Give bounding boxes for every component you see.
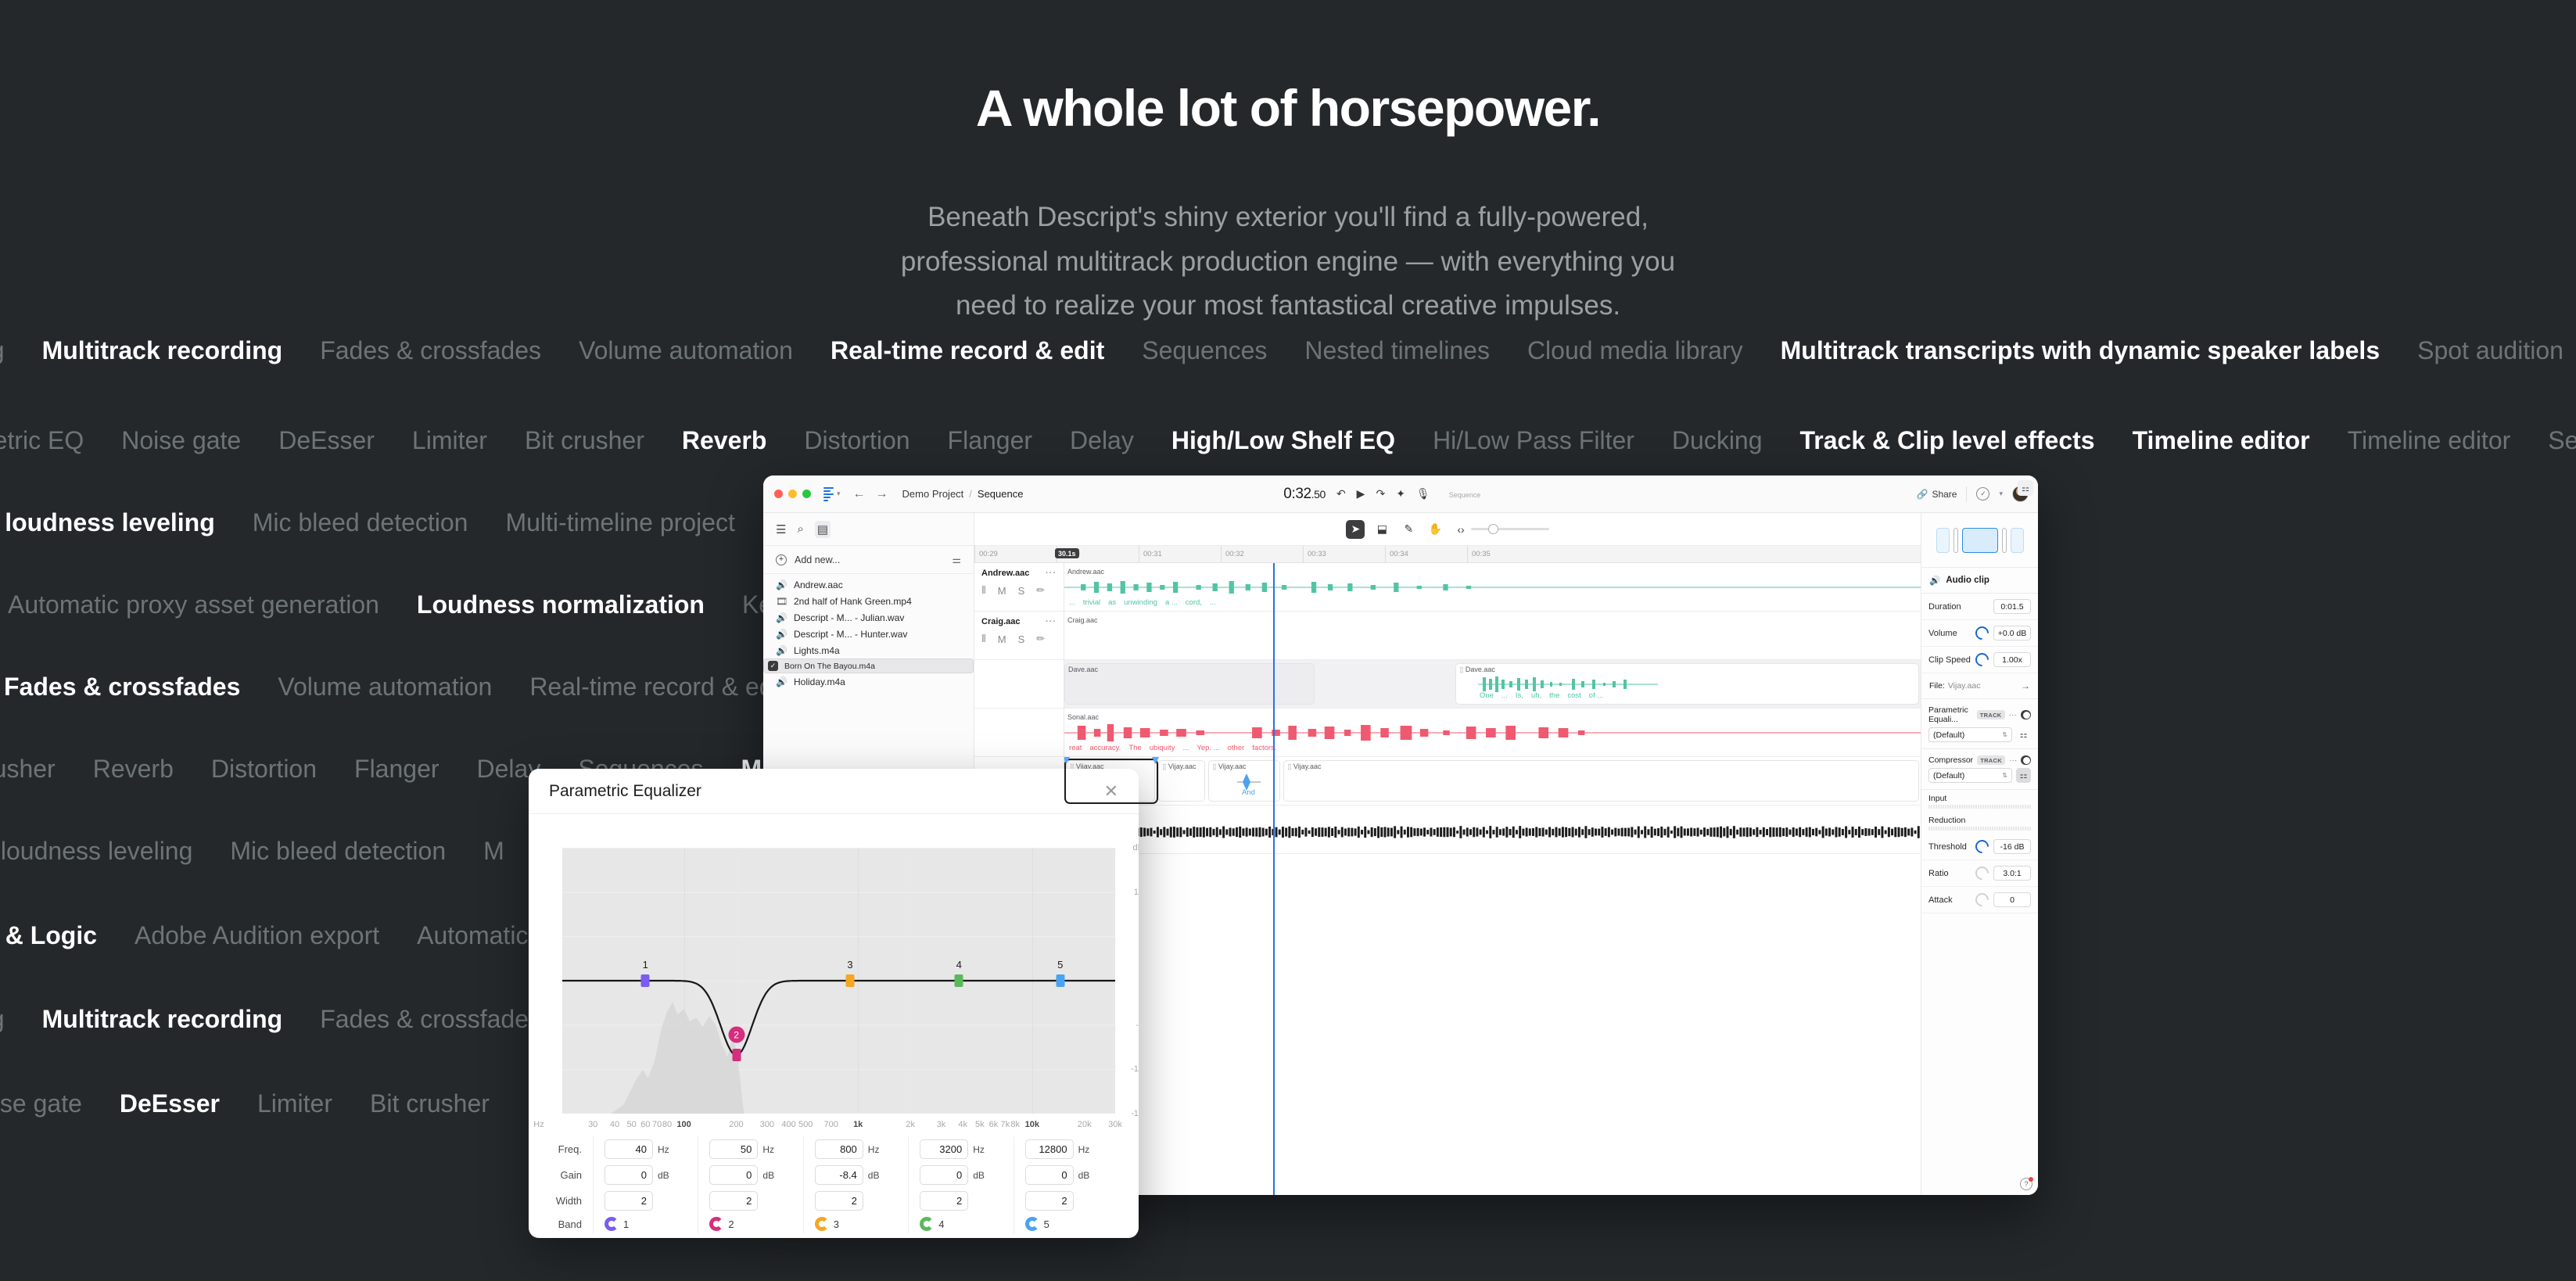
zoom-slider[interactable] (1471, 528, 1549, 530)
transcript-word[interactable]: the (1549, 691, 1559, 700)
eq-x-tick: 20k (1078, 1120, 1092, 1129)
eq-band-index: 4 (938, 1218, 944, 1230)
descript-logo-icon (823, 487, 834, 501)
feature-tag[interactable]: Sequences (1142, 336, 1267, 365)
track-menu-icon[interactable]: ··· (1046, 617, 1057, 626)
mute-button[interactable]: M (998, 585, 1006, 597)
meter-label: Input (1921, 790, 2038, 805)
transcript-word[interactable]: The (1128, 744, 1141, 752)
eq-gain-input[interactable]: 0 (709, 1165, 758, 1185)
filter-icon[interactable]: ⚌ (952, 554, 961, 566)
eq-x-tick: 80 (662, 1120, 672, 1129)
rotary-knob[interactable] (1972, 650, 1991, 669)
file-name: Holiday.m4a (794, 676, 845, 687)
ruler-tick: 00:32 (1221, 546, 1303, 562)
search-icon[interactable]: ⌕ (797, 522, 803, 536)
feature-tag[interactable]: Distortion (211, 755, 317, 784)
effect-toggle[interactable] (2021, 710, 2031, 719)
playhead[interactable] (1273, 563, 1275, 1195)
eq-x-tick: 5k (975, 1120, 985, 1129)
eq-band-cell: 1 (593, 1214, 698, 1234)
feature-tag[interactable]: Hi/Low Pass Filter (1433, 426, 1634, 455)
speaker-icon: 🔊 (1929, 575, 1940, 586)
maximize-window-icon[interactable] (802, 490, 811, 498)
plus-icon: + (776, 554, 787, 565)
feature-tag[interactable]: Distortion (804, 426, 909, 455)
clip-type-label: Audio clip (1946, 576, 1989, 585)
rotary-knob[interactable] (1972, 863, 1991, 882)
eq-band-color-ring[interactable] (709, 1217, 723, 1231)
audio-icon[interactable]: 🔊 (776, 676, 788, 687)
feature-tag[interactable]: Real-time record & ed (529, 673, 773, 701)
eq-gain-input[interactable]: -8.4 (815, 1165, 863, 1185)
feature-tag[interactable]: Adobe Audition export (135, 921, 379, 950)
feature-tag[interactable]: Loudness normalization (417, 590, 705, 619)
eq-gain-unit: dB (1078, 1170, 1090, 1181)
drag-grip-icon[interactable]: ⣿ (1459, 666, 1463, 673)
magic-wand-icon[interactable]: ✏ (1036, 633, 1045, 645)
transcript-word[interactable]: ... (1069, 598, 1075, 607)
file-name: Descript - M... - Julian.wav (794, 612, 904, 623)
chevron-down-icon[interactable]: ▾ (837, 490, 841, 498)
eq-gain-input[interactable]: 0 (605, 1165, 653, 1185)
waveform-icon[interactable]: ⦀ (981, 584, 986, 597)
eq-band-handle[interactable] (955, 974, 963, 987)
track-header[interactable]: Andrew.aac···⦀MS✏ (974, 563, 1064, 612)
clip-vijay-3[interactable]: ⣿Vijay.aac And (1208, 760, 1280, 802)
clip-name: Dave.aac (1466, 666, 1495, 673)
preview-clip-selected (1962, 528, 1998, 553)
file-name: Andrew.aac (794, 579, 843, 590)
feature-tag[interactable]: Mic bleed detection (253, 508, 468, 537)
property-label: Volume (1928, 629, 1971, 638)
feature-tag[interactable]: M (483, 837, 504, 866)
effect-menu-icon[interactable]: ··· (2009, 710, 2018, 719)
feature-tag[interactable]: Automatic proxy asset generation (8, 590, 379, 619)
list-item[interactable]: 🔊Descript - M... - Julian.wav (763, 609, 974, 626)
eq-x-tick: 8k (1010, 1120, 1020, 1129)
file-name: 2nd half of Hank Green.mp4 (794, 596, 912, 607)
track-header[interactable]: Craig.aac···⦀MS✏ (974, 612, 1064, 660)
ruler-tick: 00:35 (1467, 546, 1549, 562)
property-row: Volume+0.0 dB (1921, 620, 2038, 647)
preset-select[interactable]: (Default)⇅ (1928, 727, 2012, 742)
hamburger-menu-icon[interactable]: ☰ (776, 522, 786, 536)
eq-x-axis-title: Hz (533, 1120, 544, 1129)
feature-tag[interactable]: Ducking (1672, 426, 1763, 455)
transcript-word[interactable]: Is, (1516, 691, 1523, 700)
feature-tag[interactable]: oise gate (0, 1089, 82, 1118)
audio-icon[interactable]: 🔊 (776, 579, 788, 590)
eq-x-tick: 300 (760, 1120, 774, 1129)
feature-tag[interactable]: ng (0, 336, 5, 365)
eq-band-bubble[interactable]: 2 (728, 1027, 744, 1043)
transcript-word[interactable]: ... (1501, 691, 1508, 700)
list-item[interactable]: 🎞2nd half of Hank Green.mp4 (763, 593, 974, 609)
feature-tag[interactable]: Mic bleed detection (230, 837, 446, 866)
eq-band-handle[interactable] (732, 1049, 741, 1061)
feature-tag[interactable]: Timeline editor (2348, 426, 2511, 455)
audio-icon[interactable]: 🔊 (776, 629, 788, 640)
timecode-display: 0:32.50 (1283, 486, 1326, 503)
eq-freq-cell: 3200Hz (908, 1136, 1013, 1162)
zoom-control[interactable]: ‹› (1457, 523, 1548, 536)
drag-grip-icon[interactable]: ⣿ (1212, 763, 1216, 770)
breadcrumb-project[interactable]: Demo Project (902, 488, 964, 500)
feature-tag[interactable]: Limiter (257, 1089, 332, 1118)
feature-tag[interactable]: Bit crusher (525, 426, 644, 455)
list-item[interactable]: 🔊Andrew.aac (763, 576, 974, 593)
feature-tag[interactable]: Timeline editor (2133, 426, 2310, 455)
feature-tag[interactable]: Limiter (412, 426, 487, 455)
feature-tag[interactable]: ng (0, 1005, 5, 1034)
transcript-word[interactable]: other (1228, 744, 1245, 752)
effect-toggle[interactable] (2021, 755, 2031, 765)
clip-vijay-2[interactable]: ⣿Vijay.aac (1158, 760, 1205, 802)
feature-tag[interactable]: tic loudness leveling (0, 508, 215, 537)
page-subtitle: Beneath Descript's shiny exterior you'll… (780, 196, 1796, 328)
eq-x-tick: 1k (853, 1120, 863, 1129)
share-button[interactable]: 🔗 Share (1916, 489, 1957, 500)
property-label: Duration (1928, 602, 1989, 612)
waveform-icon[interactable]: ⦀ (981, 633, 986, 645)
feature-tag[interactable]: Fades & crossfades (4, 673, 240, 701)
feature-tag[interactable]: Nested timelines (1304, 336, 1490, 365)
redo-icon[interactable]: ↷ (1376, 487, 1385, 501)
hand-tool-icon[interactable]: ✋ (1426, 520, 1444, 539)
param-label: Ratio (1928, 869, 1971, 878)
undo-icon[interactable]: ↶ (1336, 487, 1346, 501)
feature-tag[interactable]: Sequences (2548, 426, 2576, 455)
minimize-window-icon[interactable] (788, 490, 797, 498)
eq-freq-input[interactable]: 12800 (1025, 1139, 1074, 1159)
eq-dialog-header: Parametric Equalizer ✕ (529, 769, 1139, 814)
feature-tag[interactable]: Flanger (948, 426, 1033, 455)
breadcrumb[interactable]: Demo Project / Sequence (902, 488, 1024, 500)
inspector-title: 🔊 Audio clip (1921, 568, 2038, 594)
transcript-word[interactable]: cost (1567, 691, 1580, 700)
feature-tag[interactable]: Volume automation (278, 673, 492, 701)
file-name: Lights.m4a (794, 645, 840, 656)
property-label: Clip Speed (1928, 655, 1971, 665)
transcript-word[interactable]: of ... (1589, 691, 1603, 700)
subtitle-line-1: Beneath Descript's shiny exterior you'll… (780, 196, 1796, 240)
clip-name: Vijay.aac (1168, 762, 1197, 770)
eq-gain-cell: -8.4dB (803, 1162, 908, 1188)
drag-grip-icon[interactable]: ⣿ (1162, 763, 1166, 770)
eq-width-input[interactable]: 2 (605, 1191, 653, 1211)
track-lane[interactable]: Andrew.aac (1064, 563, 1921, 612)
eq-x-tick: 100 (676, 1120, 691, 1129)
param-value[interactable]: -16 dB (1993, 839, 2031, 854)
feature-tag[interactable]: Delay (1070, 426, 1134, 455)
file-label: File: (1929, 681, 1945, 691)
compressor-param-row: Attack0 (1921, 887, 2038, 913)
eq-band-index: 5 (1044, 1218, 1049, 1230)
eq-x-tick: 40 (610, 1120, 619, 1129)
mute-button[interactable]: M (998, 633, 1006, 645)
rotary-knob[interactable] (1972, 623, 1991, 642)
eq-band-color-ring[interactable] (1025, 1217, 1039, 1231)
eq-band-index: 3 (834, 1218, 839, 1230)
eq-x-tick: 30k (1108, 1120, 1122, 1129)
transcript-words-dave[interactable]: One...Is,uh,thecostof ... (1475, 691, 1918, 700)
transcript-word[interactable]: ... (1210, 598, 1216, 607)
clip-lanes[interactable]: Andrew.aac (1064, 563, 1921, 1195)
audio-icon[interactable]: 🔊 (776, 645, 788, 656)
preset-value: (Default) (1933, 771, 1964, 780)
rotary-knob[interactable] (1972, 890, 1991, 909)
drag-grip-icon[interactable]: ⣿ (1287, 763, 1291, 770)
subtitle-line-3: need to realize your most fantastical cr… (780, 284, 1796, 328)
feature-tag[interactable]: Noise gate (121, 426, 241, 455)
effect-settings-icon[interactable]: ⚏ (2016, 768, 2031, 783)
transcript-word[interactable]: unwinding (1124, 598, 1157, 607)
level-meter (1928, 827, 2031, 831)
eq-band-number: 3 (847, 959, 852, 971)
transcript-words-sonal[interactable]: reataccuracy.Theubiquity...Yep. ...other… (1064, 744, 1921, 752)
feature-tag[interactable]: Fades & crossfades (320, 1005, 541, 1034)
feature-tag[interactable]: Multi-timeline project (505, 508, 734, 537)
feature-tag[interactable]: DeEsser (278, 426, 375, 455)
track-header[interactable] (974, 709, 1064, 757)
play-icon[interactable]: ▶ (1357, 487, 1365, 501)
eq-freq-unit: Hz (762, 1144, 774, 1155)
feature-tag[interactable]: Flanger (354, 755, 439, 784)
help-button[interactable]: ? (2020, 1178, 2032, 1190)
transcript-word[interactable]: ... (1182, 744, 1189, 752)
clip-vijay-4[interactable]: ⣿Vijay.aac (1283, 760, 1919, 802)
effect-block: Parametric Equali...TRACK···(Default)⇅⚏ (1921, 699, 2038, 749)
eq-band-handle[interactable] (846, 974, 855, 987)
transcript-word[interactable]: reat (1069, 744, 1082, 752)
transcript-word[interactable]: ubiquity (1150, 744, 1175, 752)
forward-arrow-icon[interactable]: → (876, 487, 888, 501)
ruler-tick: 00:34 (1385, 546, 1467, 562)
eq-band-handle[interactable] (641, 974, 650, 987)
preview-clip-next (2011, 528, 2024, 553)
clip-dave-2[interactable]: ⣿Dave.aac (1455, 663, 1919, 705)
eq-band-color-ring[interactable] (815, 1217, 829, 1231)
feature-tag[interactable]: Automatic (417, 921, 528, 950)
eq-y-tick: -15 (1131, 1109, 1139, 1118)
file-name: Descript - M... - Hunter.wav (794, 629, 907, 640)
chevron-down-icon-2[interactable]: ▾ (1999, 490, 2003, 498)
feature-tag[interactable]: Multitrack recording (42, 1005, 283, 1034)
feature-tag[interactable]: Cloud media library (1527, 336, 1743, 365)
transcript-word[interactable]: a ... (1165, 598, 1178, 607)
clip-selection-box[interactable] (1064, 759, 1158, 804)
feature-tag[interactable]: Fades & crossfades (320, 336, 541, 365)
breadcrumb-page[interactable]: Sequence (978, 488, 1024, 500)
track-lane[interactable]: Craig.aac (1064, 612, 1921, 660)
eq-width-input[interactable]: 2 (1025, 1191, 1074, 1211)
effect-settings-icon[interactable]: ⚏ (2016, 727, 2031, 742)
eq-width-cell: 2 (908, 1188, 1013, 1214)
zoom-fit-icon[interactable]: ‹› (1457, 523, 1464, 536)
eq-response-graph[interactable]: dB 1050-5-10-15 12345 Hz 304050607080100… (562, 848, 1115, 1114)
property-value[interactable]: 1.00x (1993, 652, 2031, 667)
window-controls[interactable] (774, 490, 811, 498)
inspector-toggle-icon[interactable]: ⚏ (2018, 480, 2033, 496)
track-name: Craig.aac (981, 617, 1021, 626)
property-value[interactable]: +0.0 dB (1993, 626, 2031, 640)
feature-tag-row: metric EQNoise gateDeEsserLimiterBit cru… (0, 426, 2576, 455)
zoom-slider-knob[interactable] (1488, 524, 1498, 534)
effect-scope-badge: TRACK (1977, 755, 2005, 765)
feature-tag[interactable]: Reverb (93, 755, 174, 784)
feature-tag[interactable]: rusher (0, 755, 56, 784)
feature-tag[interactable]: Spot audition (2417, 336, 2563, 365)
feature-tag[interactable]: Multitrack recording (42, 336, 283, 365)
clip-name: Vijay.aac (1218, 762, 1247, 770)
track-header[interactable] (974, 660, 1064, 709)
feature-tag[interactable]: Real-time record & edit (831, 336, 1104, 365)
feature-tag[interactable]: Bit crusher (370, 1089, 490, 1118)
eq-row-label: Gain (549, 1169, 593, 1181)
eq-band-color-ring[interactable] (605, 1217, 619, 1231)
transcript-word[interactable]: as (1108, 598, 1116, 607)
track-lane[interactable]: Sonal.aac (1064, 709, 1921, 757)
effect-block: CompressorTRACK···(Default)⇅⚏ (1921, 749, 2038, 790)
eq-x-tick: 200 (729, 1120, 743, 1129)
eq-freq-input[interactable]: 50 (709, 1139, 758, 1159)
effect-name: Compressor (1928, 755, 1973, 765)
track-lane[interactable]: Light My Fire.m4a -3.4 (1064, 806, 1921, 854)
eq-width-cell: 2 (1014, 1188, 1118, 1214)
slip-tool-icon[interactable]: ✎ (1399, 520, 1418, 539)
clip-name: Light My Fire.m4a (1064, 809, 1921, 820)
ruler-tick: 00:33 (1303, 546, 1385, 562)
eq-width-input[interactable]: 2 (709, 1191, 758, 1211)
list-item[interactable]: 🔊Lights.m4a (763, 642, 974, 658)
feature-tag[interactable]: tic loudness leveling (0, 837, 192, 866)
eq-freq-input[interactable]: 40 (605, 1139, 653, 1159)
media-file-list: 🔊Andrew.aac🎞2nd half of Hank Green.mp4🔊D… (763, 574, 974, 690)
eq-freq-cell: 50Hz (698, 1136, 802, 1162)
arrow-right-icon[interactable]: → (2021, 680, 2030, 691)
transcript-word[interactable]: trivial (1083, 598, 1100, 607)
eq-gain-input[interactable]: 0 (920, 1165, 968, 1185)
track-lane[interactable]: ⣿Vijay.aac Yep. ⦀ ⣿Vijay.aac (1064, 757, 1921, 806)
transcript-word[interactable]: uh, (1531, 691, 1541, 700)
transcript-word[interactable]: accuracy. (1089, 744, 1121, 752)
waveform-light-my-fire (1064, 824, 1921, 840)
solo-button[interactable]: S (1018, 633, 1025, 645)
eq-band-handle[interactable] (1056, 974, 1064, 987)
eq-x-tick: 60 (640, 1120, 650, 1129)
eq-x-tick: 400 (781, 1120, 795, 1129)
clip-name: Sonal.aac (1064, 712, 1921, 723)
nav-arrows[interactable]: ← → (853, 487, 888, 501)
back-arrow-icon[interactable]: ← (853, 487, 866, 501)
transcript-word[interactable]: Yep. ... (1197, 744, 1219, 752)
eq-y-tick: -5 (1136, 1021, 1139, 1030)
feature-tag[interactable]: High/Low Shelf EQ (1171, 426, 1395, 455)
checkbox-checked-icon[interactable]: ✓ (768, 661, 778, 671)
microphone-icon[interactable]: 🎙 (1416, 487, 1430, 501)
eq-freq-input[interactable]: 3200 (920, 1139, 968, 1159)
track-lane[interactable]: Dave.aac ⣿Dave.aac (1064, 660, 1921, 709)
eq-y-tick: 10 (1134, 888, 1139, 897)
transcript-word[interactable]: One (1480, 691, 1494, 700)
transcript-words-andrew[interactable]: ...trivialasunwindinga ...cord,... (1064, 598, 1921, 607)
rotary-knob[interactable] (1972, 837, 1991, 856)
eq-width-input[interactable]: 2 (815, 1191, 863, 1211)
audio-icon[interactable]: 🔊 (776, 612, 788, 623)
preset-select[interactable]: (Default)⇅ (1928, 768, 2012, 783)
solo-button[interactable]: S (1018, 585, 1025, 597)
clip-properties: Duration0:01.5Volume+0.0 dBClip Speed1.0… (1921, 594, 2038, 673)
effect-menu-icon[interactable]: ··· (2009, 755, 2018, 765)
eq-freq-cell: 12800Hz (1014, 1136, 1118, 1162)
eq-width-cell: 2 (698, 1188, 802, 1214)
eq-x-tick: 500 (798, 1120, 813, 1129)
eq-band-number: 4 (956, 959, 962, 971)
param-value[interactable]: 0 (1993, 892, 2031, 907)
divider (1966, 486, 1967, 502)
param-value[interactable]: 3.0:1 (1993, 866, 2031, 881)
eq-freq-unit: Hz (1078, 1144, 1090, 1155)
descript-logo[interactable]: ▾ (823, 487, 841, 501)
timecode-main: 0:32 (1283, 486, 1311, 502)
list-item[interactable]: ✓Born On The Bayou.m4a (763, 658, 974, 673)
track-menu-icon[interactable]: ··· (1046, 569, 1057, 578)
panel-toggle-icon[interactable]: ▤ (815, 521, 831, 538)
transcript-word[interactable]: cord, (1186, 598, 1202, 607)
feature-tag[interactable]: metric EQ (0, 426, 84, 455)
eq-freq-input[interactable]: 800 (815, 1139, 863, 1159)
property-value[interactable]: 0:01.5 (1993, 599, 2031, 614)
check-circle-icon[interactable]: ✓ (1976, 487, 1989, 501)
close-window-icon[interactable] (774, 490, 783, 498)
property-row: Duration0:01.5 (1921, 594, 2038, 620)
ruler-position-badge: 30.1s (1055, 548, 1079, 558)
eq-width-cell: 2 (803, 1188, 908, 1214)
magic-wand-icon[interactable]: ✏ (1036, 584, 1045, 597)
feature-tag[interactable]: Volume automation (579, 336, 793, 365)
feature-tag[interactable]: Track & Clip level effects (1800, 426, 2095, 455)
select-tool-icon[interactable]: ➤ (1346, 520, 1365, 539)
sparkle-icon[interactable]: ✦ (1396, 487, 1405, 501)
timeline-ruler[interactable]: 30.1s 00:2900:3000:3100:3200:3300:3400:3… (974, 546, 1921, 563)
eq-band-color-ring[interactable] (920, 1217, 934, 1231)
add-new-button[interactable]: + Add new... ⚌ (763, 546, 974, 574)
feature-tag[interactable]: DeEsser (120, 1089, 220, 1118)
list-item[interactable]: 🔊Holiday.m4a (763, 673, 974, 690)
eq-width-input[interactable]: 2 (920, 1191, 968, 1211)
list-item[interactable]: 🔊Descript - M... - Hunter.wav (763, 626, 974, 642)
chevron-updown-icon: ⇅ (2002, 731, 2007, 738)
eq-band-cell: 5 (1014, 1214, 1118, 1234)
feature-tag[interactable]: Reverb (682, 426, 767, 455)
feature-tag[interactable]: Multitrack transcripts with dynamic spea… (1781, 336, 2380, 365)
compressor-param-row: Threshold-16 dB (1921, 834, 2038, 860)
eq-gain-input[interactable]: 0 (1025, 1165, 1074, 1185)
feature-tag[interactable]: s & Logic (0, 921, 97, 950)
waveform-sonal (1064, 724, 1921, 741)
page-title: A whole lot of horsepower. (0, 78, 2576, 138)
source-file-row[interactable]: File: Vijay.aac → (1921, 673, 2038, 699)
eq-row-label: Freq. (549, 1143, 593, 1155)
eq-freq-unit: Hz (868, 1144, 880, 1155)
video-icon[interactable]: 🎞 (776, 596, 788, 607)
param-label: Attack (1928, 895, 1971, 905)
eq-gain-cell: 0dB (908, 1162, 1013, 1188)
range-tool-icon[interactable]: ⬓ (1372, 520, 1391, 539)
breadcrumb-separator: / (969, 488, 972, 500)
notification-dot (2029, 1177, 2033, 1182)
